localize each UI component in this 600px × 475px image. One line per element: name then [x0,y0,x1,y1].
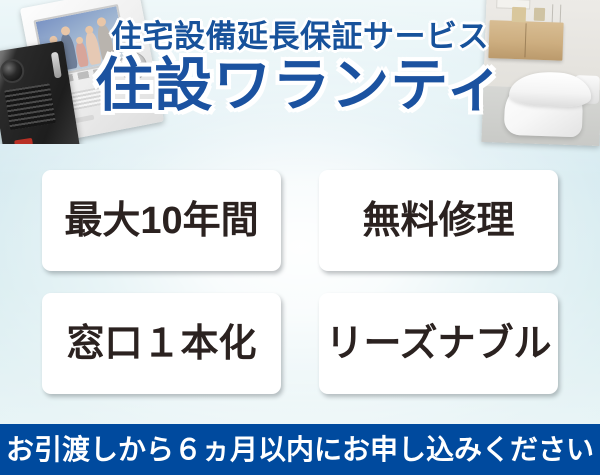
door-station-speaker [4,83,56,130]
feature-card-grid: 最大10年間 無料修理 窓口１本化 リーズナブル [42,170,558,394]
feature-card-label: 最大10年間 [64,202,258,240]
feature-card-max-years[interactable]: 最大10年間 [42,170,281,271]
toilet-photo [481,0,600,146]
cta-text: お引渡しから６ヵ月以内にお申し込みください [6,436,594,464]
feature-card-label: リーズナブル [325,325,551,363]
cabinet-door-seam [524,23,526,57]
promo-banner: 住宅設備延長保証サービス 住設ワランティ 最大10年間 無料修理 窓口１本化 リ… [0,0,600,475]
door-station-call-button [14,138,33,144]
door-station-camera-lens [0,57,26,84]
feature-card-free-repair[interactable]: 無料修理 [319,170,558,271]
video-intercom-photo [0,0,170,144]
door-station-trim [51,52,62,79]
feature-card-label: 無料修理 [362,202,514,240]
feature-card-label: 窓口１本化 [66,325,256,363]
shelf-item [534,8,545,21]
shelf-item [512,7,527,22]
feature-card-single-contact[interactable]: 窓口１本化 [42,293,281,394]
cta-bar[interactable]: お引渡しから６ヵ月以内にお申し込みください [0,424,600,475]
bathroom-cabinet [488,20,563,61]
feature-card-reasonable[interactable]: リーズナブル [319,293,558,394]
